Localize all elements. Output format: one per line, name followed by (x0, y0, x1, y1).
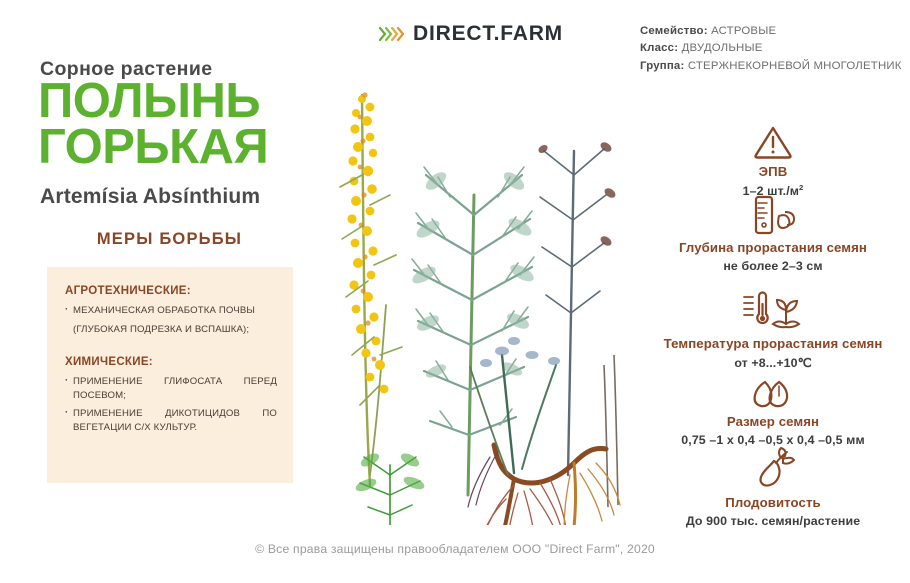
brand-logo: DIRECT.FARM (378, 22, 563, 46)
taxonomy-label: Группа: (640, 60, 684, 72)
stat-label: ЭПВ (638, 164, 908, 180)
page-title: ПОЛЫНЬ ГОРЬКАЯ (38, 78, 268, 170)
taxonomy-value: СТЕРЖНЕКОРНЕВОЙ МНОГОЛЕТНИК (688, 60, 902, 72)
measures-item: МЕХАНИЧЕСКАЯ ОБРАБОТКА ПОЧВЫ (65, 304, 277, 318)
stat-label: Температура прорастания семян (638, 336, 908, 352)
control-measures-box: АГРОТЕХНИЧЕСКИЕ: МЕХАНИЧЕСКАЯ ОБРАБОТКА … (47, 267, 293, 483)
taxonomy-info: Семейство: АСТРОВЫЕ Класс: ДВУДОЛЬНЫЕ Гр… (640, 23, 905, 75)
warning-triangle-icon (638, 116, 908, 160)
stat-block-germination-depth: Глубина прорастания семян не более 2–3 с… (638, 192, 908, 273)
infographic-poster: DIRECT.FARM Сорное растение ПОЛЫНЬ ГОРЬК… (0, 0, 910, 583)
measures-item: ПРИМЕНЕНИЕ ДИКОТИЦИДОВ ПО ВЕГЕТАЦИИ С/Х … (65, 407, 277, 434)
taxonomy-row-group: Группа: СТЕРЖНЕКОРНЕВОЙ МНОГОЛЕТНИК (640, 58, 905, 75)
copyright-footer: © Все права защищены правообладателем ОО… (0, 542, 910, 556)
taxonomy-label: Семейство: (640, 25, 708, 37)
stat-value-exponent: 2 (799, 183, 803, 192)
stat-value: 0,75 –1 х 0,4 –0,5 х 0,4 –0,5 мм (638, 433, 908, 447)
measures-title: МЕРЫ БОРЬБЫ (47, 230, 292, 249)
stat-block-germination-temperature: Температура прорастания семян от +8...+1… (638, 288, 908, 370)
stat-label: Плодовитость (638, 495, 908, 511)
seed-sprout-icon (638, 447, 908, 491)
measures-group-heading-chem: ХИМИЧЕСКИЕ: (65, 356, 277, 368)
measures-item: (ГЛУБОКАЯ ПОДРЕЗКА И ВСПАШКА); (65, 323, 277, 337)
stat-block-seed-size: Размер семян 0,75 –1 х 0,4 –0,5 х 0,4 –0… (638, 366, 908, 447)
measures-group-heading-agro: АГРОТЕХНИЧЕСКИЕ: (65, 285, 277, 297)
taxonomy-row-family: Семейство: АСТРОВЫЕ (640, 23, 905, 40)
taxonomy-value: ДВУДОЛЬНЫЕ (682, 42, 763, 54)
taxonomy-value: АСТРОВЫЕ (711, 25, 776, 37)
latin-name: Artemísia Absínthium (40, 185, 260, 209)
thermometer-sprout-icon (638, 288, 908, 332)
signal-chevrons-icon (378, 23, 404, 45)
plant-name-line2: ГОРЬКАЯ (38, 124, 268, 170)
measures-item: ПРИМЕНЕНИЕ ГЛИФОСАТА ПЕРЕД ПОСЕВОМ; (65, 375, 277, 402)
stat-block-epv: ЭПВ 1–2 шт./м2 (638, 116, 908, 198)
taxonomy-row-class: Класс: ДВУДОЛЬНЫЕ (640, 40, 905, 57)
plant-illustration (318, 55, 628, 525)
stat-value: До 900 тыс. семян/растение (638, 514, 908, 528)
plant-name-line1: ПОЛЫНЬ (38, 78, 268, 124)
stat-value: не более 2–3 см (638, 259, 908, 273)
stat-label: Размер семян (638, 414, 908, 430)
logo-text: DIRECT.FARM (413, 22, 563, 46)
stat-block-fecundity: Плодовитость До 900 тыс. семян/растение (638, 447, 908, 528)
ruler-seeds-icon (638, 192, 908, 236)
stat-label: Глубина прорастания семян (638, 240, 908, 256)
taxonomy-label: Класс: (640, 42, 678, 54)
two-seeds-icon (638, 366, 908, 410)
